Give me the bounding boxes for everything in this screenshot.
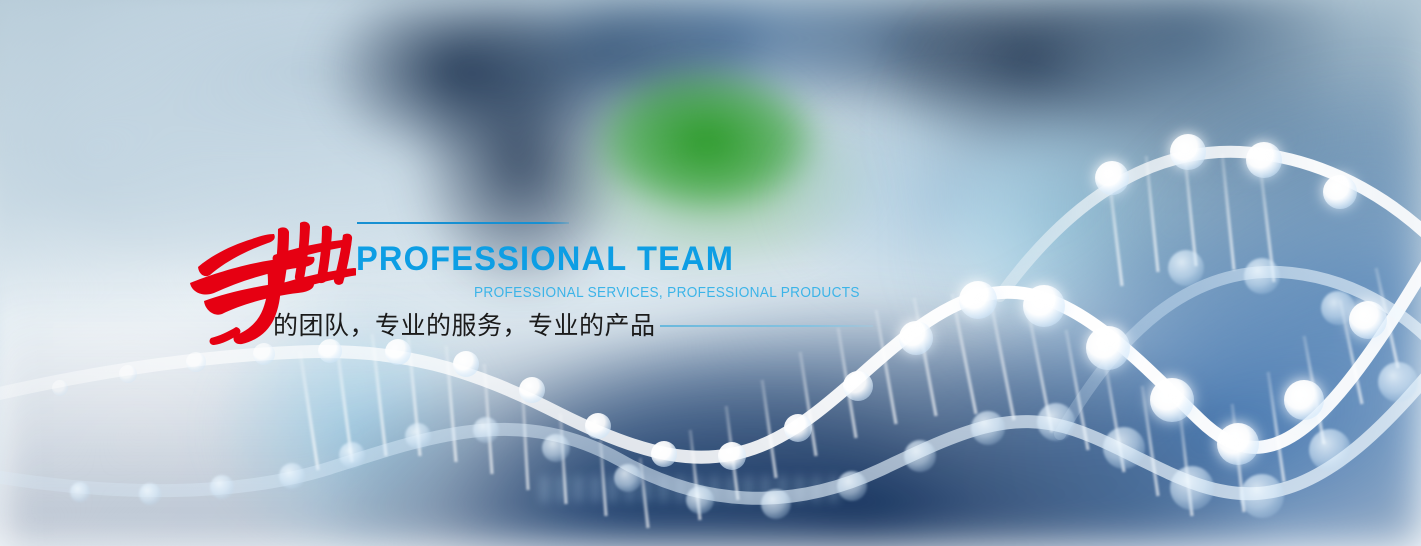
chinese-tagline: 的团队，专业的服务，专业的产品 bbox=[273, 306, 656, 342]
headline-text-block: PROFESSIONAL TEAM PROFESSIONAL SERVICES,… bbox=[0, 0, 1421, 546]
divider-bottom bbox=[660, 325, 873, 327]
professional-team-banner: PROFESSIONAL TEAM PROFESSIONAL SERVICES,… bbox=[0, 0, 1421, 546]
divider-top bbox=[357, 222, 569, 224]
page-subtitle: PROFESSIONAL SERVICES, PROFESSIONAL PROD… bbox=[474, 285, 860, 301]
page-title: PROFESSIONAL TEAM bbox=[356, 240, 734, 279]
